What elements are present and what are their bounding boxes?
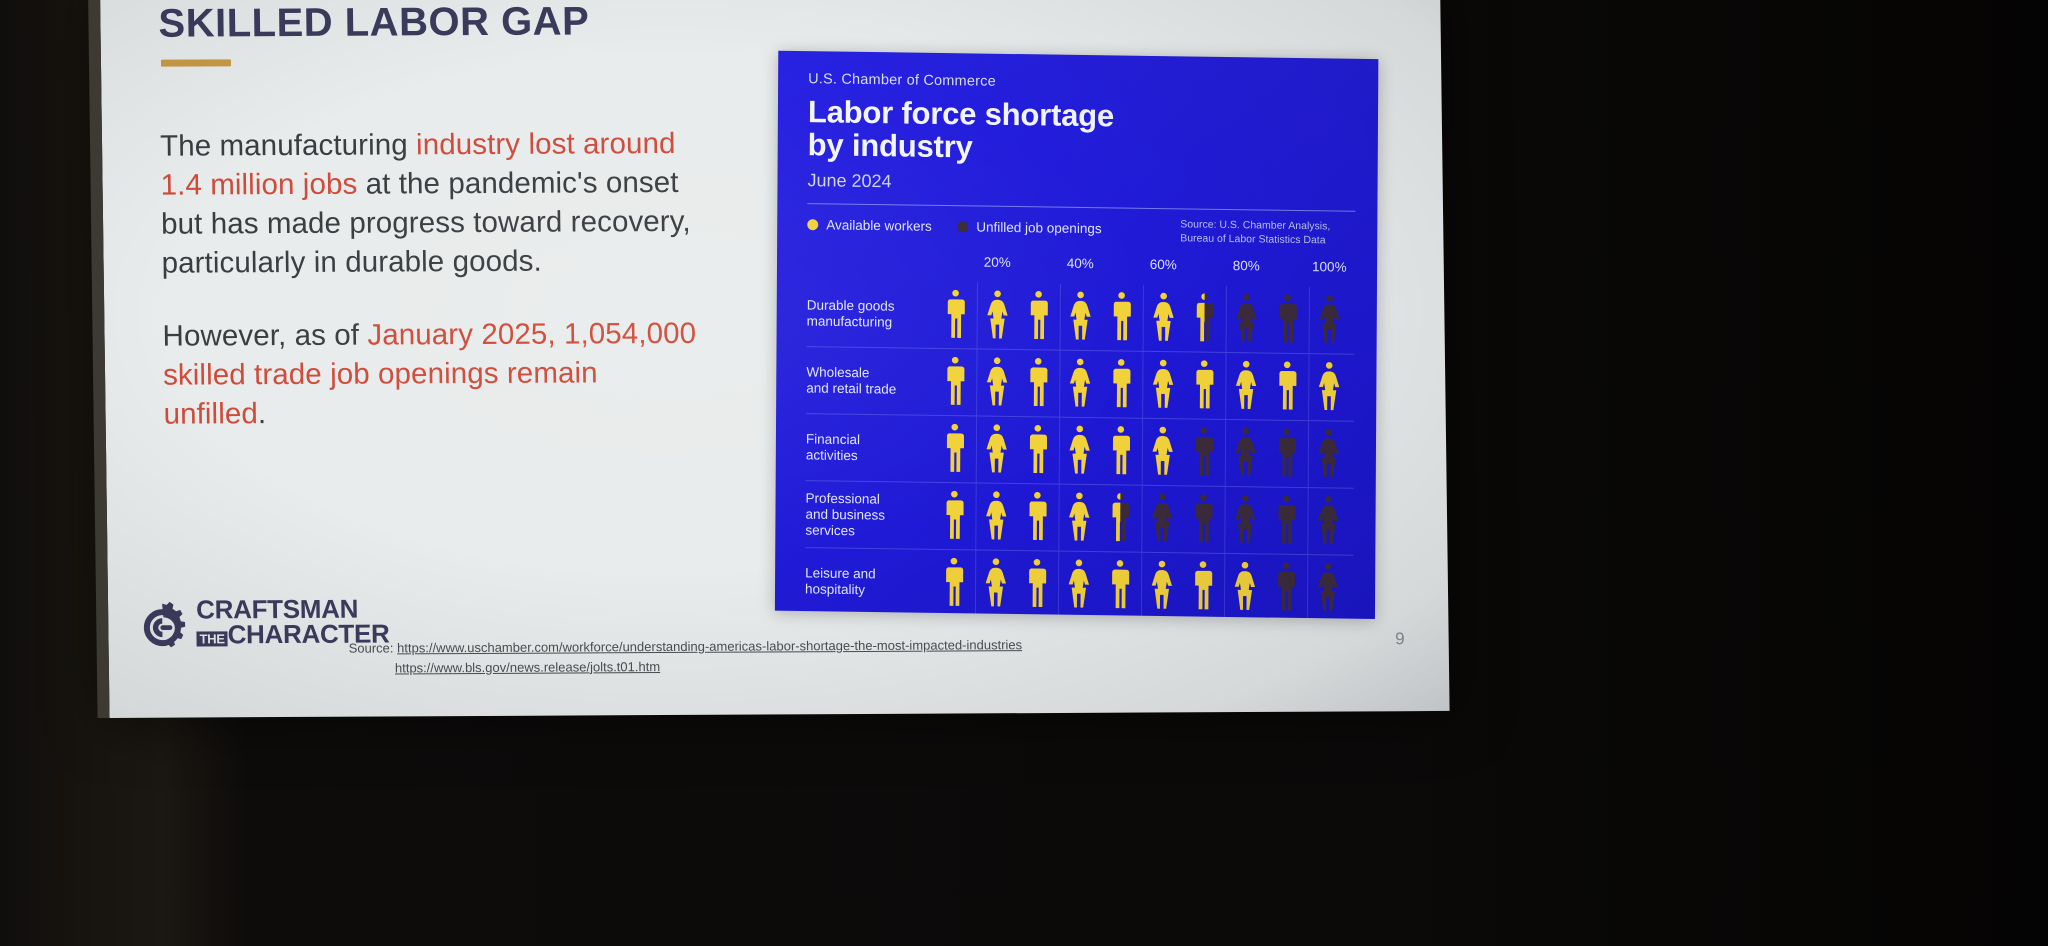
person-icon: [1142, 359, 1184, 412]
person-icon: [934, 423, 976, 476]
row-label: Durable goodsmanufacturing: [807, 298, 927, 331]
gear-icon: [136, 602, 189, 654]
person-icon: [1224, 494, 1266, 547]
person-icon: [1059, 358, 1101, 411]
axis-tick-40: 40%: [1067, 256, 1094, 271]
person-icon: [1142, 292, 1184, 345]
person-icon: [974, 558, 1016, 611]
paragraph-2: However, as of January 2025, 1,054,000 s…: [162, 315, 704, 435]
person-icon: [1141, 426, 1183, 479]
person-icon: [1184, 293, 1226, 346]
person-icon: [1141, 493, 1183, 546]
person-icon: [1182, 561, 1224, 614]
person-icon: [1223, 561, 1265, 614]
chart-row: Financialactivities: [806, 413, 1354, 488]
row-label: Financialactivities: [806, 432, 926, 465]
person-icon: [1308, 294, 1350, 347]
paragraph-1: The manufacturing industry lost around 1…: [160, 125, 702, 284]
title-accent-rule: [161, 59, 231, 66]
legend-label-available: Available workers: [826, 218, 932, 234]
person-icon: [1307, 495, 1349, 548]
person-icon: [1099, 559, 1141, 612]
legend-label-unfilled: Unfilled job openings: [976, 220, 1101, 237]
person-icon: [975, 424, 1017, 477]
person-icon: [1266, 428, 1308, 481]
person-icon: [1016, 558, 1058, 611]
person-icon: [1100, 359, 1142, 412]
person-icon: [976, 357, 1018, 410]
source-link-uschamber[interactable]: https://www.uschamber.com/workforce/unde…: [397, 637, 1022, 655]
person-icon: [1265, 562, 1307, 615]
logo-the: THE: [196, 632, 227, 647]
chart-row: Durable goodsmanufacturing: [807, 280, 1355, 354]
chart-source-note: Source: U.S. Chamber Analysis, Bureau of…: [1180, 218, 1355, 249]
person-icon: [976, 290, 1018, 343]
person-icon: [1225, 360, 1267, 413]
infographic-subtitle: June 2024: [807, 170, 1355, 199]
person-icon: [1018, 290, 1060, 343]
person-icon: [1225, 293, 1267, 346]
person-icon: [935, 289, 977, 342]
pictogram-group: [933, 483, 1353, 555]
person-icon: [1183, 427, 1225, 480]
axis-tick-80: 80%: [1233, 258, 1260, 273]
slide-page-number: 9: [1395, 629, 1405, 649]
person-icon: [1057, 559, 1099, 612]
craftsman-character-logo: CRAFTSMAN THECHARACTER: [136, 597, 347, 656]
row-label: Wholesaleand retail trade: [806, 365, 926, 398]
person-icon: [1140, 560, 1182, 613]
source-link-bls[interactable]: https://www.bls.gov/news.release/jolts.t…: [395, 659, 660, 675]
person-icon: [1100, 426, 1142, 479]
person-icon: [1224, 427, 1266, 480]
person-icon: [933, 490, 975, 543]
pictogram-group: [935, 282, 1355, 354]
person-icon: [933, 557, 975, 610]
legend-item-unfilled: Unfilled job openings: [957, 220, 1101, 237]
person-icon: [1099, 493, 1141, 546]
chart-row: Wholesaleand retail trade: [806, 346, 1354, 421]
presentation-slide: SKILLED LABOR GAP The manufacturing indu…: [100, 0, 1450, 718]
person-icon: [1017, 357, 1059, 410]
page-title: SKILLED LABOR GAP: [158, 0, 589, 47]
infographic-panel: U.S. Chamber of Commerce Labor force sho…: [775, 51, 1378, 619]
person-icon: [1016, 491, 1058, 544]
person-icon: [1182, 494, 1224, 547]
source-footer: Source: https://www.uschamber.com/workfo…: [349, 635, 1023, 678]
chart-legend: Available workers Unfilled job openings …: [807, 214, 1355, 252]
legend-dot-available: [807, 219, 818, 230]
plain-text: The manufacturing: [160, 128, 416, 162]
person-icon: [1308, 361, 1350, 414]
axis-tick-100: 100%: [1312, 259, 1347, 274]
person-icon: [1266, 361, 1308, 414]
row-label: Leisure andhospitality: [805, 566, 925, 599]
plain-text: .: [258, 397, 267, 430]
person-icon: [1059, 291, 1101, 344]
person-icon: [975, 491, 1017, 544]
chart-row: Professionaland businessservices: [805, 480, 1353, 555]
infographic-divider: [807, 203, 1355, 212]
person-icon: [1058, 492, 1100, 545]
pictogram-group: [934, 349, 1354, 421]
source-label: Source:: [349, 640, 394, 655]
person-icon: [1101, 292, 1143, 345]
body-text-column: The manufacturing industry lost around 1…: [160, 125, 704, 468]
person-icon: [1017, 424, 1059, 477]
legend-item-available: Available workers: [807, 217, 932, 234]
person-icon: [934, 356, 976, 409]
chart-rows: Durable goodsmanufacturingWholesaleand r…: [805, 280, 1355, 619]
pictogram-group: [934, 416, 1354, 488]
person-icon: [1058, 425, 1100, 478]
person-icon: [1306, 562, 1348, 615]
axis-tick-60: 60%: [1150, 257, 1177, 272]
infographic-title: Labor force shortageby industry: [808, 95, 1356, 169]
person-icon: [1307, 428, 1349, 481]
plain-text: However, as of: [162, 318, 367, 352]
infographic-org: U.S. Chamber of Commerce: [808, 71, 1356, 95]
chart-row: Leisure andhospitality: [805, 547, 1353, 619]
row-label: Professionaland businessservices: [805, 491, 925, 540]
person-icon: [1183, 360, 1225, 413]
legend-dot-unfilled: [957, 222, 968, 233]
person-icon: [1267, 294, 1309, 347]
person-icon: [1265, 495, 1307, 548]
pictogram-group: [933, 550, 1353, 619]
axis-tick-20: 20%: [984, 255, 1011, 270]
